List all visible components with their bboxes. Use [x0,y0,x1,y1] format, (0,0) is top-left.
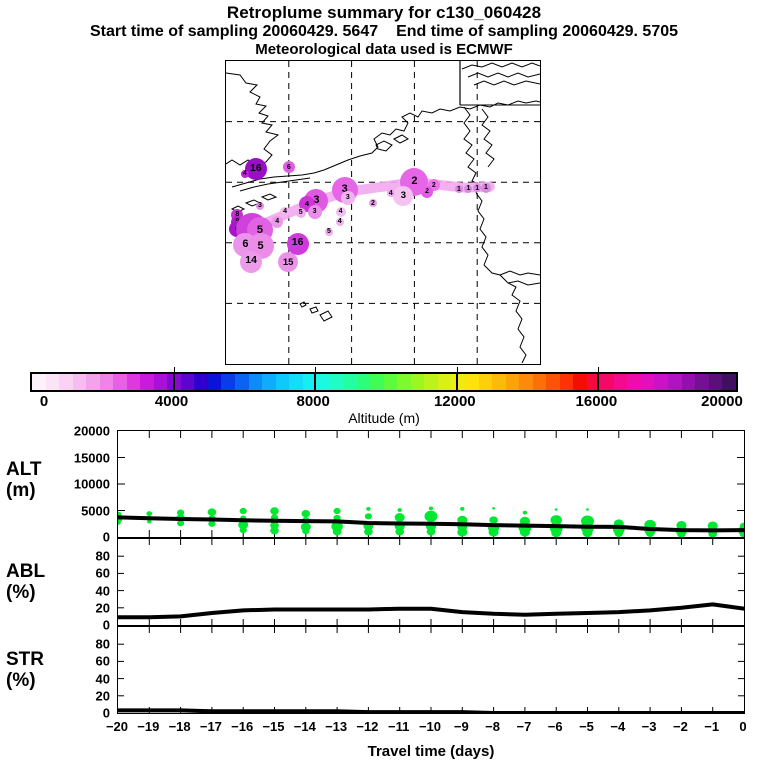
plume-marker: 5 [325,228,333,236]
panel-row-title-line2: (%) [6,670,44,691]
met-data-label: Meteorological data used is ECMWF [0,41,768,59]
colorbar-swatch [316,374,330,390]
alt-plot [118,431,744,537]
x-tick-label: −19 [137,719,159,734]
colorbar-swatch [100,374,114,390]
panel-row-title: ABL(%) [6,561,45,603]
panel-row-title: STR(%) [6,649,44,691]
plume-marker: 4 [336,218,344,226]
colorbar-swatch [32,374,46,390]
colorbar-swatch [181,374,195,390]
y-tick-label: 20000 [74,424,110,439]
plume-marker: 14 [240,251,262,273]
colorbar-swatch [479,374,493,390]
colorbar-swatch [46,374,60,390]
colorbar-swatch [235,374,249,390]
y-tick-label: 10000 [74,477,110,492]
colorbar-swatch [73,374,87,390]
colorbar-swatch [560,374,574,390]
x-tick-label: −10 [419,719,441,734]
colorbar-swatch [614,374,628,390]
x-tick-label: −1 [704,719,719,734]
colorbar-swatch [194,374,208,390]
colorbar-swatch [343,374,357,390]
colorbar-swatch [276,374,290,390]
colorbar-tick-label: 4000 [155,393,188,410]
y-tick-label: 0 [103,618,110,633]
colorbar-separator [456,374,458,390]
timeseries-section: 05000100001500020000020406080020406080AL… [0,425,768,768]
plume-marker: 3 [256,202,264,210]
x-tick-label: −4 [610,719,625,734]
colorbar-tick [174,367,175,374]
x-tick-label: −15 [262,719,284,734]
panel-row-title-line1: ABL [6,561,45,582]
plume-marker: 16 [245,158,267,180]
x-tick-label: −7 [516,719,531,734]
x-tick-label: −8 [485,719,500,734]
alt-panel[interactable] [117,430,745,538]
colorbar-swatch [397,374,411,390]
colorbar-swatch [654,374,668,390]
plume-marker: 5 [296,208,306,218]
colorbar-separator [314,374,316,390]
y-tick-label: 20 [96,600,110,615]
title-block: Retroplume summary for c130_060428 Start… [0,0,768,59]
y-tick-label: 40 [96,583,110,598]
y-tick-label: 60 [96,566,110,581]
colorbar-swatch [330,374,344,390]
colorbar-swatch [370,374,384,390]
colorbar-swatch [221,374,235,390]
colorbar-tick [315,367,316,374]
y-tick-label: 80 [96,637,110,652]
panel-row-title-line1: STR [6,649,44,670]
colorbar-tick-label: 8000 [297,393,330,410]
plume-marker: 15 [278,252,298,272]
y-tick-label: 15000 [74,450,110,465]
colorbar-tick-label: 16000 [576,393,618,410]
colorbar-tick-label: 0 [40,393,48,410]
altitude-colorbar[interactable]: 040008000120001600020000 [30,372,738,392]
y-tick-label: 5000 [81,503,110,518]
colorbar-tick-label: 20000 [701,393,743,410]
y-tick-label: 80 [96,549,110,564]
colorbar-swatch [533,374,547,390]
colorbar-swatch [682,374,696,390]
colorbar-swatch [289,374,303,390]
colorbar-swatch [127,374,141,390]
colorbar-swatch [627,374,641,390]
plume-marker: 4 [280,207,290,217]
colorbar-swatch [506,374,520,390]
colorbar-swatch [492,374,506,390]
colorbar-swatch [384,374,398,390]
x-tick-label: −13 [325,719,347,734]
y-tick-label: 20 [96,688,110,703]
colorbar-title: Altitude (m) [0,410,768,426]
page-title: Retroplume summary for c130_060428 [0,3,768,22]
colorbar-swatch [249,374,263,390]
colorbar-swatch [411,374,425,390]
x-tick-label: −12 [356,719,378,734]
colorbar-swatch [641,374,655,390]
panel-row-title: ALT(m) [6,459,42,501]
start-time-label: Start time of sampling 20060429. 5647 [90,23,378,40]
plume-marker: 6 [283,161,295,173]
x-axis-title: Travel time (days) [117,743,745,760]
plume-marker: 2 [369,199,377,207]
plume-marker: 1 [455,185,463,193]
x-tick-label: −5 [579,719,594,734]
end-time-label: End time of sampling 20060429. 5705 [396,23,678,40]
colorbar-swatch [573,374,587,390]
colorbar-swatch [722,374,736,390]
colorbar-swatch [113,374,127,390]
x-tick-label: −14 [294,719,316,734]
colorbar-swatch [451,374,465,390]
str-panel[interactable] [117,626,745,714]
colorbar-separator [597,374,599,390]
plume-marker: 3 [341,191,355,205]
colorbar-swatch [438,374,452,390]
colorbar-swatch [519,374,533,390]
y-tick-label: 40 [96,671,110,686]
plume-marker: 1 [473,184,481,192]
colorbar-separator [173,374,175,390]
x-tick-label: −11 [388,719,409,734]
panel-row-title-line2: (m) [6,480,42,501]
colorbar-tick [457,367,458,374]
x-tick-label: −16 [231,719,253,734]
plume-marker: 1 [464,185,472,193]
colorbar-swatch [208,374,222,390]
y-tick-label: 0 [103,530,110,545]
x-tick-label: −20 [106,719,128,734]
colorbar-swatch [357,374,371,390]
x-tick-label: −18 [169,719,191,734]
x-tick-label: −17 [200,719,222,734]
colorbar-swatch [140,374,154,390]
x-tick-label: −3 [642,719,657,734]
colorbar-swatch [424,374,438,390]
colorbar-tick [598,367,599,374]
colorbar-swatch [668,374,682,390]
y-tick-label: 60 [96,654,110,669]
x-tick-label: −6 [548,719,563,734]
str-plot [118,627,744,713]
colorbar-swatch [600,374,614,390]
colorbar-swatch [695,374,709,390]
colorbar-swatch [546,374,560,390]
map-panel[interactable]: 111122234233434345489045651415161646543 [225,60,541,365]
colorbar-swatch [59,374,73,390]
panel-row-title-line2: (%) [6,582,45,603]
x-tick-label: −2 [673,719,688,734]
colorbar-swatch [86,374,100,390]
plume-marker: 4 [336,207,346,217]
x-tick-label: 0 [739,719,746,734]
colorbar-tick-label: 12000 [434,393,476,410]
plume-marker: 4 [271,216,283,228]
colorbar-swatch [709,374,723,390]
plume-marker: 16 [287,233,309,255]
sampling-time-line: Start time of sampling 20060429. 5647End… [0,22,768,41]
abl-plot [118,539,744,625]
colorbar-swatch [262,374,276,390]
plume-marker: 1 [481,183,491,193]
plume-marker: 3 [308,205,322,219]
x-tick-label: −9 [454,719,469,734]
colorbar-swatch [154,374,168,390]
colorbar-gradient [30,372,738,392]
plume-marker: 4 [241,170,249,178]
plume-marker: 4 [387,189,395,197]
colorbar-swatch [465,374,479,390]
y-axis-labels-column: 05000100001500020000020406080020406080AL… [0,425,114,768]
plume-markers-layer: 111122234233434345489045651415161646543 [226,61,540,364]
panel-row-title-line1: ALT [6,459,42,480]
abl-panel[interactable] [117,538,745,626]
plume-marker: 3 [393,186,413,206]
